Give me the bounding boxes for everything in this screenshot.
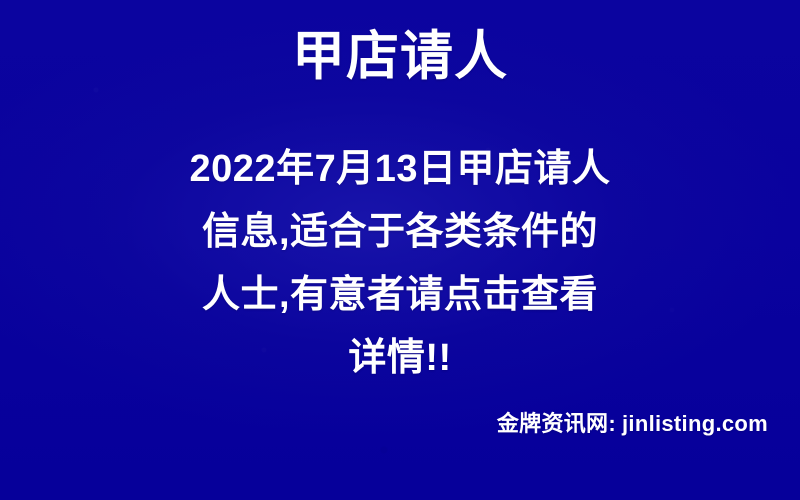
site-name-label: 金牌资讯网: [497,411,616,436]
promo-poster: 甲店请人 2022年7月13日甲店请人 信息,适合于各类条件的 人士,有意者请点… [0,0,800,500]
page-title: 甲店请人 [0,24,800,90]
footer-watermark: 金牌资讯网:jinlisting.com [497,410,768,438]
body-line-2: 信息,适合于各类条件的 [70,201,730,264]
body-line-3: 人士,有意者请点击查看 [70,264,730,327]
body-line-1: 2022年7月13日甲店请人 [70,138,730,201]
body-line-4: 详情!! [70,327,730,390]
body-text-block: 2022年7月13日甲店请人 信息,适合于各类条件的 人士,有意者请点击查看 详… [70,138,730,390]
site-url-label: jinlisting.com [622,411,768,436]
